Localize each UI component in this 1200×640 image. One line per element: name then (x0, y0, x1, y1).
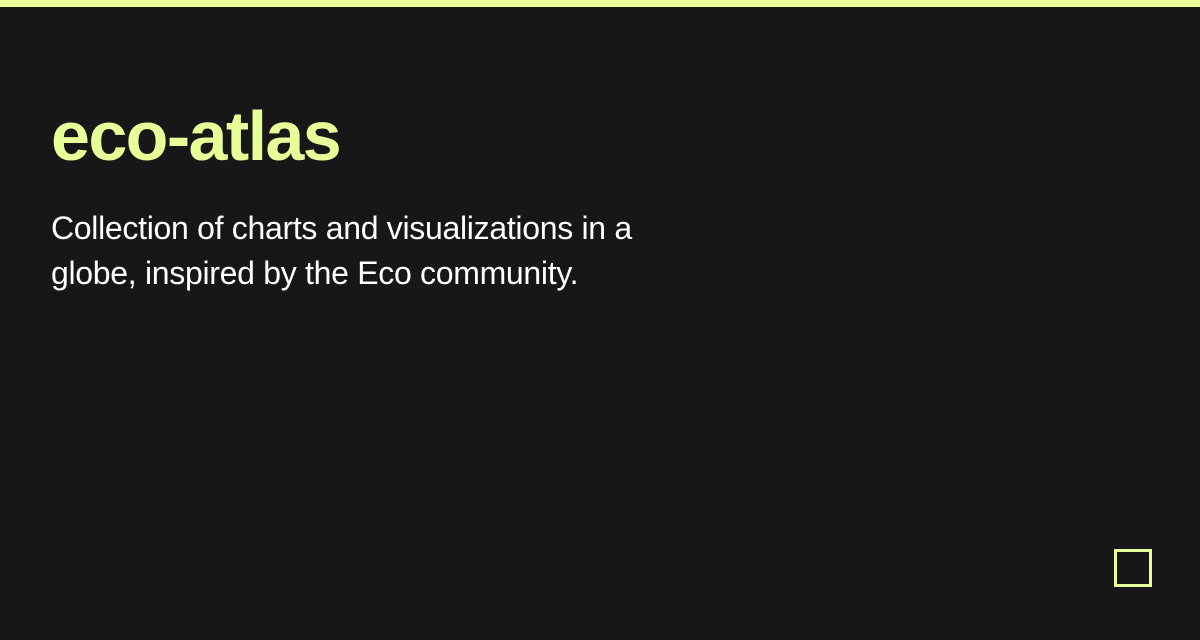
og-card: eco-atlas Collection of charts and visua… (0, 0, 1200, 640)
top-accent-bar (0, 0, 1200, 7)
card-content: eco-atlas Collection of charts and visua… (51, 94, 751, 296)
page-description: Collection of charts and visualizations … (51, 206, 723, 296)
square-outline-icon (1114, 549, 1152, 587)
page-title: eco-atlas (51, 94, 751, 178)
